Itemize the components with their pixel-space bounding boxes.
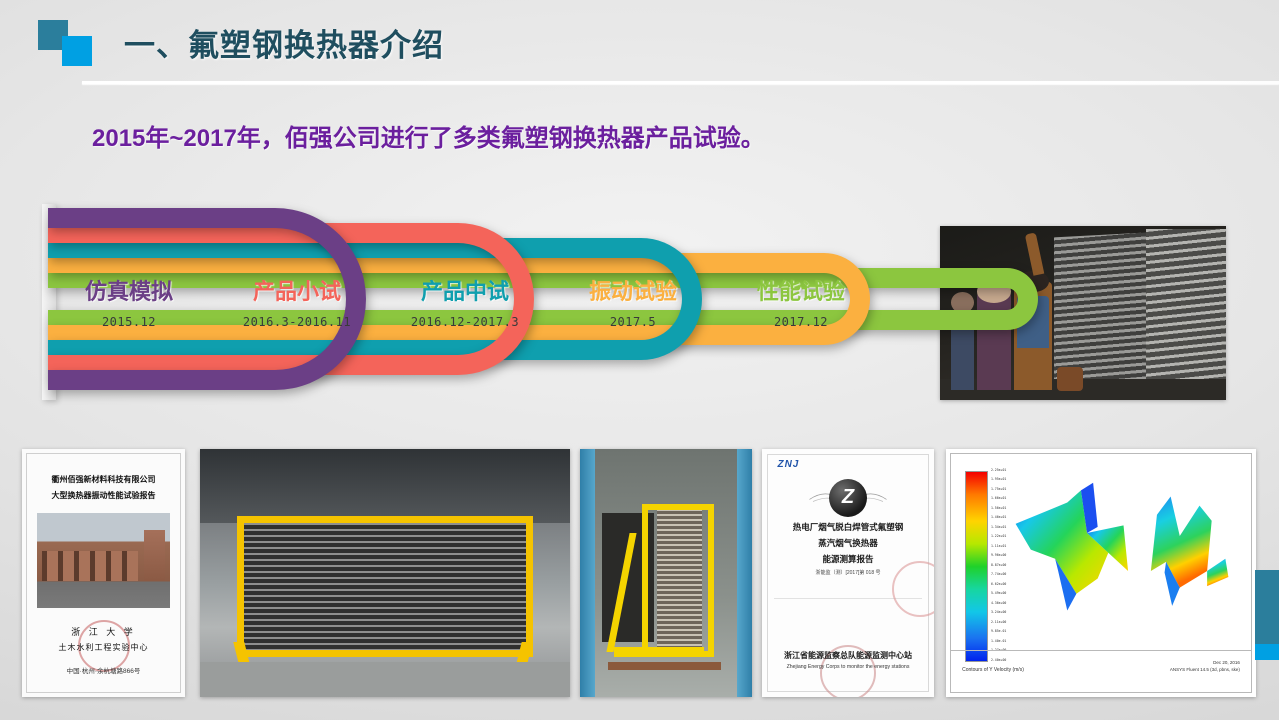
uni-footer-line3: 中国·杭州·余杭塘路866号 bbox=[22, 665, 185, 675]
timeline-step-label: 产品中试 bbox=[390, 274, 540, 306]
timeline-step-1[interactable]: 仿真模拟2015.12 bbox=[54, 274, 204, 329]
cfd-colorbar-ticks: 2.25e+011.95e+011.75e+011.66e+011.56e+01… bbox=[991, 469, 1006, 662]
cfd-tick-label: 5.49e+00 bbox=[991, 592, 1006, 595]
cfd-tick-label: 7.74e+00 bbox=[991, 573, 1006, 576]
slide-subtitle: 2015年~2017年，佰强公司进行了多类氟塑钢换热器产品试验。 bbox=[92, 118, 765, 153]
uni-footer-line1: 浙 江 大 学 bbox=[22, 625, 185, 638]
cfd-tick-label: 1.56e+01 bbox=[991, 507, 1006, 510]
cfd-footer: Contours of Y Velocity (m/s) Dec 20, 201… bbox=[950, 650, 1252, 693]
timeline-step-3[interactable]: 产品中试2016.12-2017.3 bbox=[390, 274, 540, 329]
cfd-title: Contours of Y Velocity (m/s) bbox=[962, 667, 1024, 673]
timeline-step-label: 性能试验 bbox=[726, 274, 876, 306]
cfd-tick-label: 9.85e-01 bbox=[991, 630, 1006, 633]
cfd-surfaces bbox=[1008, 464, 1244, 648]
uni-org-line2: 大型换热器振动性能试验报告 bbox=[22, 490, 185, 501]
cfd-date: Dec 20, 2016 bbox=[1170, 659, 1240, 666]
timeline-step-2[interactable]: 产品小试2016.3-2016.11 bbox=[222, 274, 372, 329]
cfd-tick-label: 1.66e+01 bbox=[991, 497, 1006, 500]
timeline-step-date: 2017.5 bbox=[558, 315, 708, 329]
cfd-colorbar bbox=[965, 471, 989, 661]
cfd-contour-plot: 2.25e+011.95e+011.75e+011.66e+011.56e+01… bbox=[946, 449, 1256, 697]
cfd-meta: Dec 20, 2016 ANSYS Fluent 14.5 (3d, pbns… bbox=[1170, 659, 1240, 673]
energy-footer-en: Zhejiang Energy Corps to monitor the ene… bbox=[762, 664, 934, 670]
cfd-tick-label: 1.22e+01 bbox=[991, 535, 1006, 538]
timeline-step-date: 2017.12 bbox=[726, 315, 876, 329]
timeline-step-label: 仿真模拟 bbox=[54, 274, 204, 306]
timeline-step-date: 2016.12-2017.3 bbox=[390, 315, 540, 329]
uni-org-line1: 衢州佰强新材料科技有限公司 bbox=[22, 474, 185, 485]
photo-vibration-booth bbox=[580, 449, 752, 697]
timeline-step-4[interactable]: 振动试验2017.5 bbox=[558, 274, 708, 329]
slide-canvas: 一、氟塑钢换热器介绍 2015年~2017年，佰强公司进行了多类氟塑钢换热器产品… bbox=[0, 0, 1279, 720]
cfd-tick-label: 8.87e+00 bbox=[991, 564, 1006, 567]
znj-seal-icon: Z bbox=[829, 479, 867, 517]
uni-footer-line2: 土木水利工程实验中心 bbox=[22, 642, 185, 653]
report-energy-cover: ZNJ Z 热电厂烟气脱白焊管式氟塑钢 蒸汽烟气换热器 能源测算报告 浙能监（测… bbox=[762, 449, 934, 697]
energy-title-line2: 蒸汽烟气换热器 bbox=[762, 537, 934, 549]
cfd-tick-label: 2.25e+01 bbox=[991, 469, 1006, 472]
header-square-bright-icon bbox=[62, 36, 92, 66]
cfd-tick-label: 1.46e+01 bbox=[991, 516, 1006, 519]
report-university-cover: 衢州佰强新材料科技有限公司 大型换热器振动性能试验报告 浙 江 大 学 土木水利… bbox=[22, 449, 185, 697]
timeline-step-label: 产品小试 bbox=[222, 274, 372, 306]
cfd-solver: ANSYS Fluent 14.5 (3d, pbns, ske) bbox=[1170, 666, 1240, 673]
edge-square-bright-icon bbox=[1255, 644, 1279, 660]
cfd-tick-label: 6.62e+00 bbox=[991, 583, 1006, 586]
timeline-step-date: 2016.3-2016.11 bbox=[222, 315, 372, 329]
energy-footer-cn: 浙江省能源监察总队能源监测中心站 bbox=[762, 650, 934, 661]
timeline-step-label: 振动试验 bbox=[558, 274, 708, 306]
cfd-tick-label: 1.34e+01 bbox=[991, 526, 1006, 529]
cfd-tick-label: 1.75e+01 bbox=[991, 488, 1006, 491]
cfd-tick-label: 9.96e+00 bbox=[991, 554, 1006, 557]
photo-large-rig bbox=[200, 449, 570, 697]
znj-logo: ZNJ bbox=[777, 459, 799, 470]
timeline-step-5[interactable]: 性能试验2017.12 bbox=[726, 274, 876, 329]
cfd-tick-label: 1.11e+01 bbox=[991, 545, 1006, 548]
process-timeline: 仿真模拟2015.12产品小试2016.3-2016.11产品中试2016.12… bbox=[36, 196, 936, 406]
timeline-step-date: 2015.12 bbox=[54, 315, 204, 329]
edge-square-dark-icon bbox=[1255, 570, 1279, 644]
cfd-tick-label: 4.36e+00 bbox=[991, 602, 1006, 605]
cfd-tick-label: 2.11e+00 bbox=[991, 621, 1006, 624]
page-title: 一、氟塑钢换热器介绍 bbox=[124, 20, 444, 65]
cfd-tick-label: 3.24e+00 bbox=[991, 611, 1006, 614]
cfd-tick-label: 1.95e+01 bbox=[991, 478, 1006, 481]
energy-title-line1: 热电厂烟气脱白焊管式氟塑钢 bbox=[762, 521, 934, 533]
title-divider bbox=[82, 81, 1279, 84]
cfd-tick-label: 1.40e-01 bbox=[991, 640, 1006, 643]
